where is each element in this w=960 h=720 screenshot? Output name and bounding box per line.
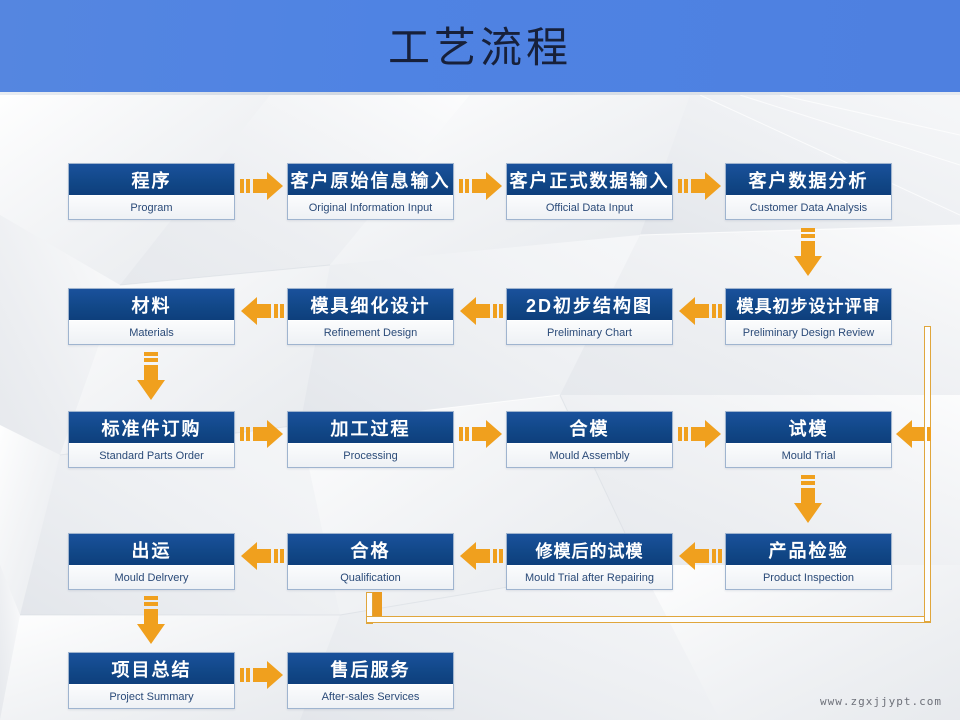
node-standard-parts-order[interactable]: 标准件订购 Standard Parts Order [68, 411, 235, 468]
node-title-cn: 项目总结 [69, 653, 234, 685]
arrow-down-r2-to-r3 [135, 352, 167, 402]
arrow-left-r4c1 [240, 541, 284, 571]
node-title-cn: 客户正式数据输入 [507, 164, 672, 196]
node-title-en: Preliminary Design Review [726, 321, 891, 344]
node-title-cn: 产品检验 [726, 534, 891, 566]
node-qualification[interactable]: 合格 Qualification [287, 533, 454, 590]
node-after-sales-services[interactable]: 售后服务 After-sales Services [287, 652, 454, 709]
arrow-right-r3c1 [240, 419, 284, 449]
node-title-en: Qualification [288, 566, 453, 589]
node-title-en: Mould Assembly [507, 444, 672, 467]
arrow-right-r1c3 [678, 171, 722, 201]
node-title-en: Processing [288, 444, 453, 467]
node-title-en: Refinement Design [288, 321, 453, 344]
node-processing[interactable]: 加工过程 Processing [287, 411, 454, 468]
node-official-data-input[interactable]: 客户正式数据输入 Official Data Input [506, 163, 673, 220]
node-title-en: Original Information Input [288, 196, 453, 219]
node-original-information-input[interactable]: 客户原始信息输入 Original Information Input [287, 163, 454, 220]
node-title-en: Customer Data Analysis [726, 196, 891, 219]
node-refinement-design[interactable]: 模具细化设计 Refinement Design [287, 288, 454, 345]
node-product-inspection[interactable]: 产品检验 Product Inspection [725, 533, 892, 590]
node-title-cn: 模具初步设计评审 [726, 289, 891, 321]
node-title-cn: 标准件订购 [69, 412, 234, 444]
node-title-cn: 售后服务 [288, 653, 453, 685]
node-title-cn: 材料 [69, 289, 234, 321]
arrow-right-r3c2 [459, 419, 503, 449]
feedback-loop-vertical-right [924, 326, 931, 622]
arrow-left-feedback-into-mould-trial [895, 419, 935, 449]
node-title-en: After-sales Services [288, 685, 453, 708]
node-title-en: Official Data Input [507, 196, 672, 219]
arrow-down-r1-to-r2 [792, 228, 824, 278]
node-title-en: Mould Delrvery [69, 566, 234, 589]
node-title-cn: 加工过程 [288, 412, 453, 444]
node-title-en: Mould Trial [726, 444, 891, 467]
node-title-cn: 合格 [288, 534, 453, 566]
node-title-cn: 修模后的试模 [507, 534, 672, 566]
arrow-down-r3-to-r4 [792, 475, 824, 525]
node-materials[interactable]: 材料 Materials [68, 288, 235, 345]
arrow-right-r1c2 [459, 171, 503, 201]
arrow-left-r4c2 [459, 541, 503, 571]
arrow-left-r2c1 [240, 296, 284, 326]
node-title-en: Mould Trial after Repairing [507, 566, 672, 589]
node-title-en: Preliminary Chart [507, 321, 672, 344]
node-title-cn: 客户原始信息输入 [288, 164, 453, 196]
arrow-left-r2c2 [459, 296, 503, 326]
node-mould-delivery[interactable]: 出运 Mould Delrvery [68, 533, 235, 590]
node-title-cn: 合模 [507, 412, 672, 444]
node-title-cn: 模具细化设计 [288, 289, 453, 321]
arrow-left-r4c3 [678, 541, 722, 571]
node-title-cn: 客户数据分析 [726, 164, 891, 196]
arrow-left-r2c3 [678, 296, 722, 326]
node-program[interactable]: 程序 Program [68, 163, 235, 220]
node-mould-trial[interactable]: 试模 Mould Trial [725, 411, 892, 468]
page-title: 工艺流程 [0, 0, 960, 92]
slide-root: 工艺流程 [0, 0, 960, 720]
arrow-down-r4-to-r5 [135, 596, 167, 646]
node-title-en: Product Inspection [726, 566, 891, 589]
node-title-cn: 程序 [69, 164, 234, 196]
node-title-cn: 出运 [69, 534, 234, 566]
node-title-cn: 2D初步结构图 [507, 289, 672, 321]
node-customer-data-analysis[interactable]: 客户数据分析 Customer Data Analysis [725, 163, 892, 220]
node-title-en: Standard Parts Order [69, 444, 234, 467]
node-preliminary-chart[interactable]: 2D初步结构图 Preliminary Chart [506, 288, 673, 345]
node-title-cn: 试模 [726, 412, 891, 444]
arrow-right-r5c1 [240, 660, 284, 690]
feedback-loop-horizontal-bottom [366, 616, 931, 623]
arrow-right-r1c1 [240, 171, 284, 201]
arrow-right-r3c3 [678, 419, 722, 449]
watermark-url: www.zgxjjypt.com [820, 695, 942, 708]
node-mould-assembly[interactable]: 合模 Mould Assembly [506, 411, 673, 468]
node-preliminary-design-review[interactable]: 模具初步设计评审 Preliminary Design Review [725, 288, 892, 345]
title-banner: 工艺流程 [0, 0, 960, 92]
node-title-en: Materials [69, 321, 234, 344]
node-mould-trial-after-repairing[interactable]: 修模后的试模 Mould Trial after Repairing [506, 533, 673, 590]
node-title-en: Project Summary [69, 685, 234, 708]
node-project-summary[interactable]: 项目总结 Project Summary [68, 652, 235, 709]
node-title-en: Program [69, 196, 234, 219]
